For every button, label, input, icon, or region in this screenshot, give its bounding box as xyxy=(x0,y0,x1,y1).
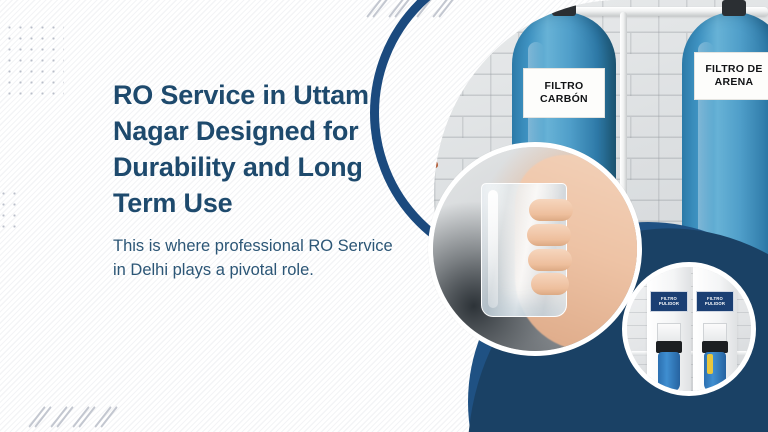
tank-label: FILTRO DE ARENA xyxy=(694,52,768,100)
banner-text-block: RO Service in Uttam Nagar Designed for D… xyxy=(113,78,413,283)
banner-image-composition: FILTRO CARBÓN FILTRO DE ARENA FILTRO PU xyxy=(400,0,768,432)
banner-headline: RO Service in Uttam Nagar Designed for D… xyxy=(113,78,413,222)
tank-cap xyxy=(722,0,746,16)
tank-label: FILTRO CARBÓN xyxy=(523,68,605,118)
filter-head xyxy=(703,323,727,343)
tank-cap xyxy=(552,0,576,16)
filter-bowl xyxy=(658,352,680,392)
filter-housing: FILTRO PULIDOR xyxy=(647,262,691,396)
filter-housing: FILTRO PULIDOR xyxy=(693,262,737,396)
promo-banner: RO Service in Uttam Nagar Designed for D… xyxy=(0,0,768,432)
diagonal-slashes-bottom-icon xyxy=(34,390,144,430)
hand-holding-glass-photo xyxy=(428,142,642,356)
banner-subheadline: This is where professional RO Service in… xyxy=(113,234,395,284)
filter-mini-label: FILTRO PULIDOR xyxy=(696,291,734,312)
filter-head xyxy=(657,323,681,343)
filter-bowl xyxy=(704,352,726,392)
filter-mini-label: FILTRO PULIDOR xyxy=(650,291,688,312)
dot-grid-top-left-icon xyxy=(4,22,64,102)
dot-grid-mid-left-icon xyxy=(0,188,24,234)
polishing-filters-photo: FILTRO PULIDOR FILTRO PULIDOR xyxy=(622,262,756,396)
